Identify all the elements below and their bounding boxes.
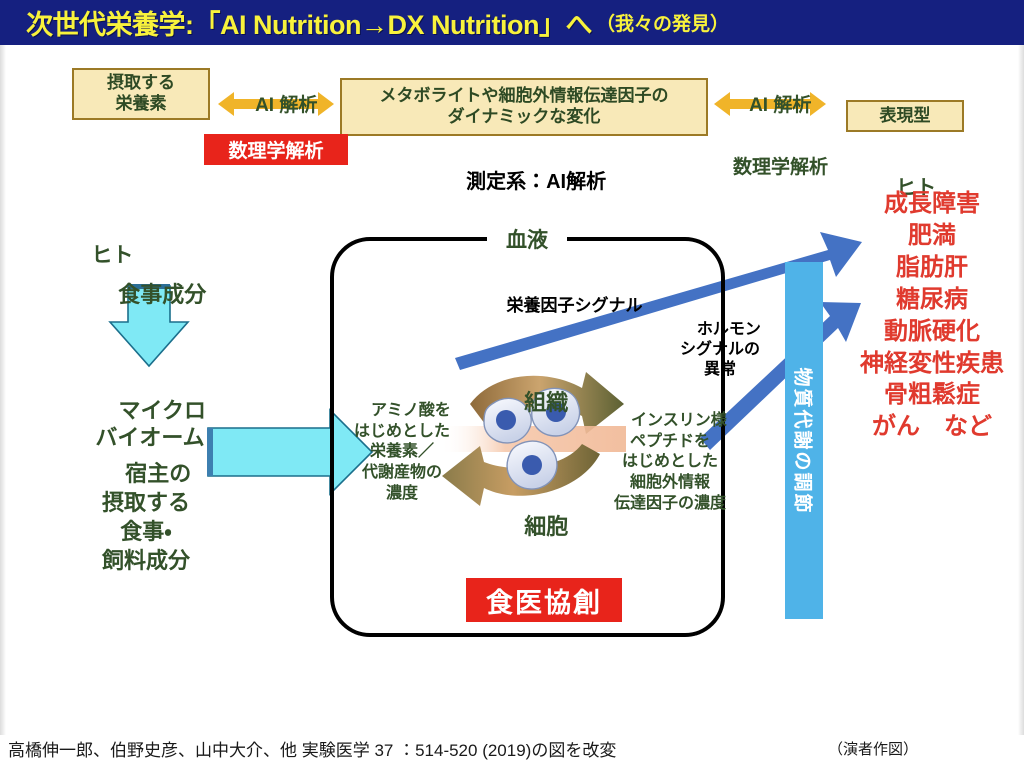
- nutrient-signal-text: 栄養因子シグナル: [506, 296, 642, 315]
- hormone-abnormal-text: ホルモン シグナルの 異常: [680, 321, 761, 378]
- slide-canvas: 次世代栄養学:「AI Nutrition→DX Nutrition」へ （我々の…: [0, 0, 1024, 765]
- blood-label: 血液: [487, 224, 567, 254]
- blood-label-text: 血液: [506, 229, 548, 252]
- ai-analysis-label-right: AI 解析: [712, 72, 828, 140]
- math-analysis-left-label: 数理学解析: [228, 136, 323, 163]
- ai-analysis-label-left: AI 解析: [216, 72, 336, 140]
- cell-label: 細胞: [487, 488, 581, 567]
- ai-analysis-left-text: AI 解析: [255, 95, 317, 116]
- top-box-metabolites: メタボライトや細胞外情報伝達因子の ダイナミックな変化: [340, 78, 708, 136]
- disease-item: 神経変性疾患: [846, 348, 1018, 380]
- top-box-metabolites-label: メタボライトや細胞外情報伝達因子の ダイナミックな変化: [380, 86, 669, 127]
- left-concentration-label: アミノ酸を はじめとした 栄養素／ 代謝産物の 濃度: [338, 380, 466, 526]
- disease-item: 動脈硬化: [846, 316, 1018, 348]
- math-analysis-box-left: 数理学解析: [204, 134, 348, 165]
- hormone-abnormal-label: ホルモン シグナルの 異常: [660, 300, 780, 400]
- disease-item: 成長障害: [846, 188, 1018, 220]
- measurement-caption: 測定系：AI解析: [400, 146, 650, 218]
- metabolism-regulation-label: 物質代謝の調節: [791, 367, 818, 514]
- top-box-phenotype-label: 表現型: [880, 106, 931, 127]
- measurement-caption-label: 測定系：AI解析: [466, 171, 606, 193]
- shokui-kyoso-label: 食医協創: [486, 581, 602, 620]
- cell-text: 細胞: [524, 514, 568, 539]
- right-concentration-text: インスリン様 ペプチドを はじめとした 細胞外情報 伝達因子の濃度: [614, 412, 727, 512]
- top-box-nutrients-label: 摂取する 栄養素: [107, 73, 175, 114]
- disease-item: 糖尿病: [846, 284, 1018, 316]
- metabolism-regulation-bar: 物質代謝の調節: [785, 262, 823, 619]
- disease-item: がん など: [846, 411, 1018, 443]
- disease-list: 成長障害 肥満 脂肪肝 糖尿病 動脈硬化 神経変性疾患 骨粗鬆症 がん など: [846, 188, 1018, 443]
- disease-item: 肥満: [846, 220, 1018, 252]
- diet-component-text: 食事成分: [118, 282, 206, 307]
- disease-item: 脂肪肝: [846, 252, 1018, 284]
- disease-item: 骨粗鬆症: [846, 379, 1018, 411]
- left-concentration-text: アミノ酸を はじめとした 栄養素／ 代謝産物の 濃度: [354, 402, 451, 502]
- credit-text: （演者作図）: [828, 738, 918, 759]
- shokui-kyoso-banner: 食医協創: [466, 578, 622, 622]
- top-box-phenotype: 表現型: [846, 100, 964, 132]
- math-analysis-right-text: 数理学解析: [733, 157, 828, 178]
- ai-analysis-right-text: AI 解析: [749, 95, 811, 116]
- nutrient-signal-label: 栄養因子シグナル: [455, 276, 675, 337]
- right-concentration-label: インスリン様 ペプチドを はじめとした 細胞外情報 伝達因子の濃度: [596, 390, 744, 536]
- math-analysis-label-right: 数理学解析: [700, 134, 840, 202]
- diet-component-label: 食事成分: [80, 256, 220, 335]
- tissue-text: 組織: [524, 390, 568, 415]
- host-intake-text: 宿主の 摂取する 食事・ 飼料成分: [102, 461, 191, 573]
- citation-text: 高橋伸一郎、伯野史彦、山中大介、他 実験医学 37 ：514-520 (2019…: [8, 736, 616, 761]
- host-intake-label: 宿主の 摂取する 食事・ 飼料成分: [76, 430, 216, 604]
- tissue-label: 組織: [487, 364, 581, 443]
- top-box-nutrients: 摂取する 栄養素: [72, 68, 210, 120]
